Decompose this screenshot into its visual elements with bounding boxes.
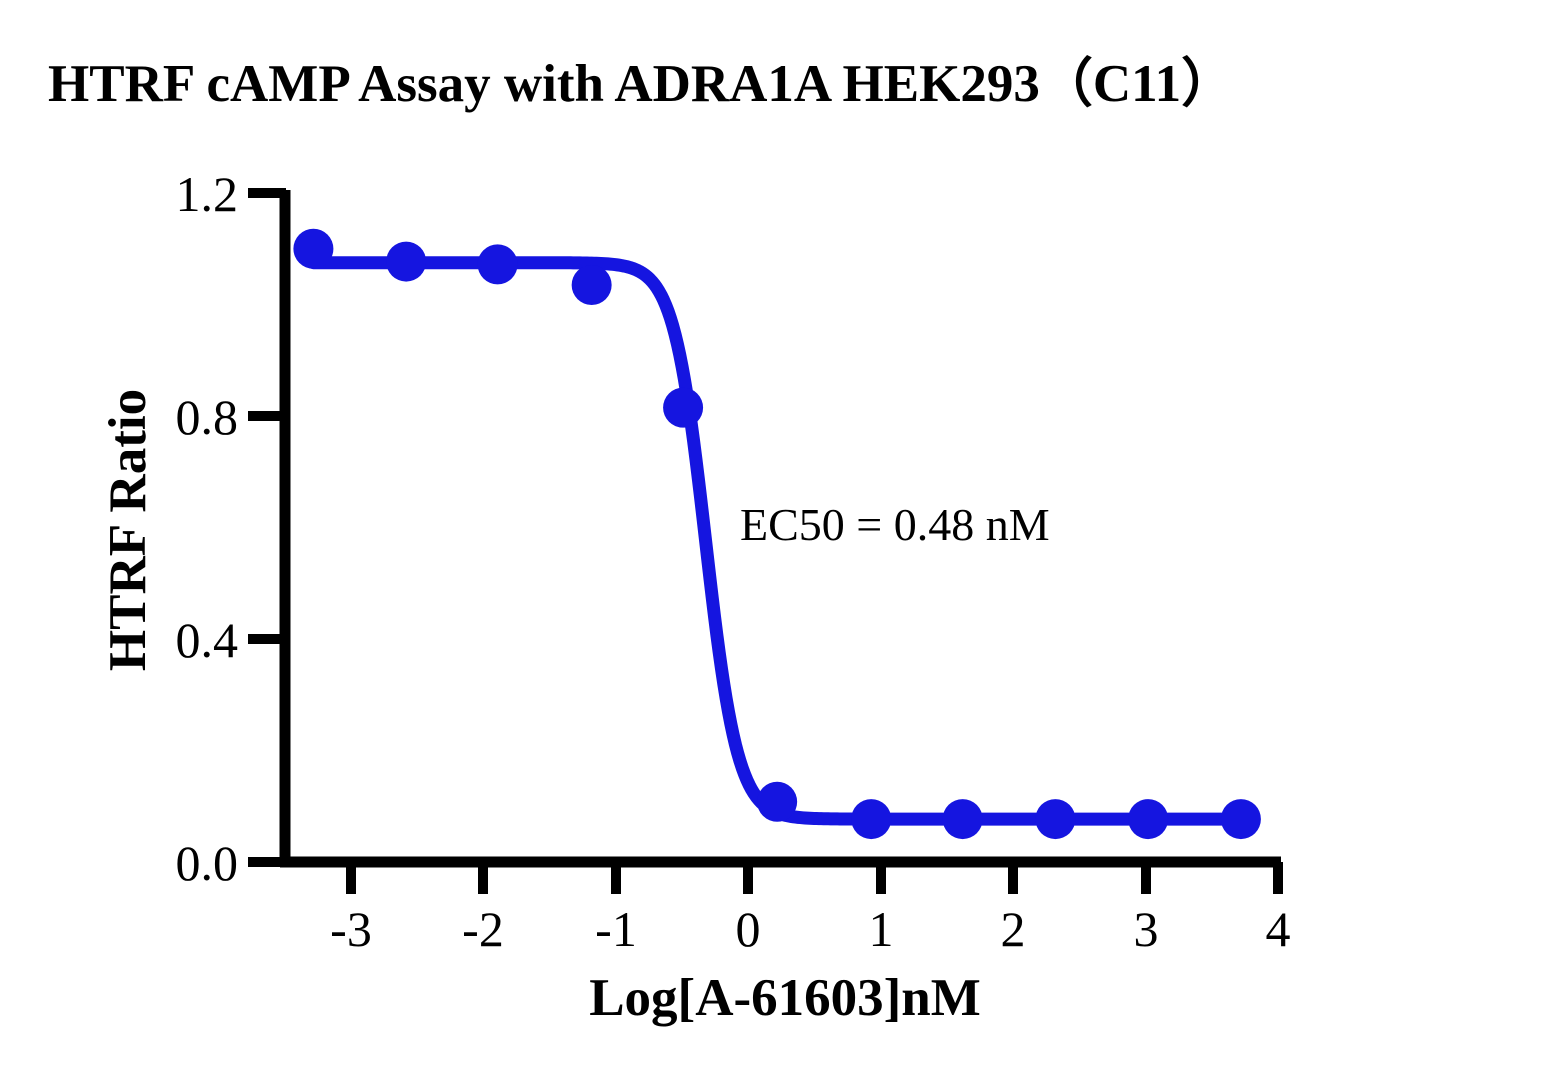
data-point-marker bbox=[1128, 799, 1168, 839]
data-point-marker bbox=[1035, 799, 1075, 839]
data-point-marker bbox=[293, 229, 333, 269]
x-tick-label-1: -2 bbox=[462, 901, 504, 957]
data-point-marker bbox=[851, 799, 891, 839]
chart-root: HTRF cAMP Assay with ADRA1A HEK293（C11） … bbox=[0, 0, 1567, 1080]
x-tick-label-7: 4 bbox=[1266, 901, 1291, 957]
data-point-marker bbox=[572, 265, 612, 305]
data-point-marker bbox=[1221, 799, 1261, 839]
x-axis-title: Log[A-61603]nM bbox=[589, 969, 981, 1027]
x-tick-label-3: 0 bbox=[736, 901, 761, 957]
y-tick-label-2: 0.4 bbox=[176, 612, 239, 668]
x-tick-label-6: 3 bbox=[1134, 901, 1159, 957]
y-tick-label-3: 0.0 bbox=[176, 835, 239, 891]
x-tick-label-2: -1 bbox=[595, 901, 637, 957]
y-tick-label-1: 0.8 bbox=[176, 389, 239, 445]
data-point-marker bbox=[943, 799, 983, 839]
y-axis-tick-labels: 1.2 0.8 0.4 0.0 bbox=[176, 166, 239, 891]
data-point-marker bbox=[757, 782, 797, 822]
x-tick-label-4: 1 bbox=[869, 901, 894, 957]
y-tick-label-0: 1.2 bbox=[176, 166, 239, 222]
data-point-marker bbox=[386, 242, 426, 282]
chart-plot: 1.2 0.8 0.4 0.0 -3 -2 -1 0 1 2 3 4 bbox=[0, 0, 1567, 1080]
y-axis-title: HTRF Ratio bbox=[99, 389, 157, 671]
x-tick-label-0: -3 bbox=[330, 901, 372, 957]
x-tick-label-5: 2 bbox=[1001, 901, 1026, 957]
ec50-annotation: EC50 = 0.48 nM bbox=[740, 499, 1050, 550]
data-point-marker bbox=[478, 244, 518, 284]
data-point-marker bbox=[663, 388, 703, 428]
x-axis-tick-labels: -3 -2 -1 0 1 2 3 4 bbox=[330, 901, 1290, 957]
